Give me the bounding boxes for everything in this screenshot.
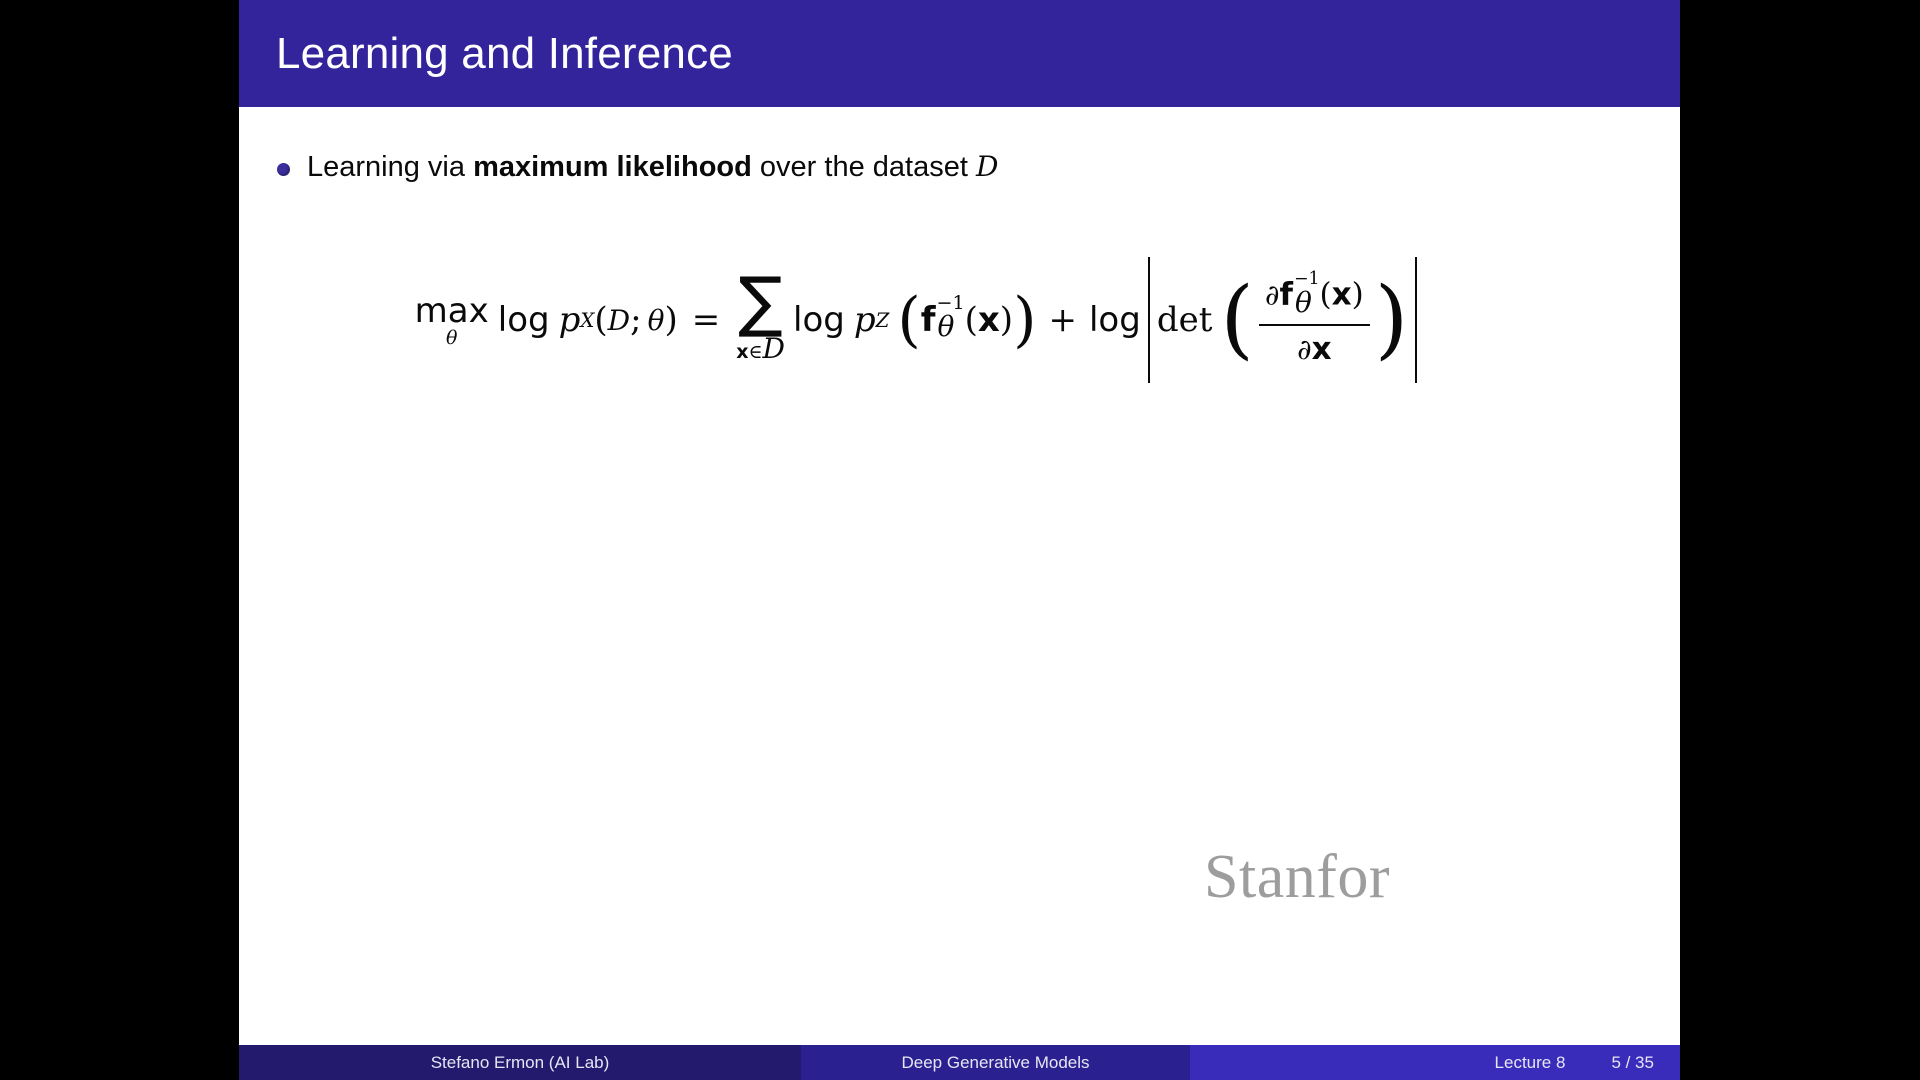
partial-icon-2: ∂ xyxy=(1297,333,1311,366)
footer-author: Stefano Ermon (AI Lab) xyxy=(239,1045,801,1080)
paren-close-4: ) xyxy=(1375,283,1409,357)
flow-function-symbol-1: f xyxy=(921,300,936,340)
flow-function-scripts-2: −1θ xyxy=(1294,271,1320,317)
bullet-bold-emphasis: maximum likelihood xyxy=(473,151,752,183)
theta-subscript-1: θ xyxy=(938,313,966,342)
paren-open-3: ( xyxy=(965,300,978,340)
footer-page-number: 5 / 35 xyxy=(1611,1053,1654,1073)
theta-subscript-2: θ xyxy=(1295,289,1321,318)
presentation-slide: Learning and Inference Learning via maxi… xyxy=(239,0,1680,1080)
bullet-suffix: over the dataset xyxy=(752,151,976,183)
paren-close-3: ) xyxy=(1000,300,1013,340)
paren-open-5: ( xyxy=(1320,277,1332,313)
density-px-subscript: X xyxy=(580,309,594,332)
footer-lecture-number: Lecture 8 xyxy=(1495,1053,1566,1073)
slide-body: Learning via maximum likelihood over the… xyxy=(239,107,1680,1045)
paren-close-5: ) xyxy=(1352,277,1364,313)
density-pz-symbol: p xyxy=(854,300,876,340)
equation-block: max θ log pX ( D ; θ ) = xyxy=(239,257,1680,383)
sigma-icon: ∑ xyxy=(738,275,782,329)
slide-footer: Stefano Ermon (AI Lab) Deep Generative M… xyxy=(239,1045,1680,1080)
dataset-symbol-2: D xyxy=(763,332,785,365)
footer-course-title: Deep Generative Models xyxy=(801,1045,1190,1080)
paren-open-1: ( xyxy=(594,300,607,340)
semicolon: ; xyxy=(630,300,641,340)
slide-viewer: Learning and Inference Learning via maxi… xyxy=(0,0,1920,1080)
max-subscript-theta: θ xyxy=(446,327,457,349)
log-operator-3: log xyxy=(1089,300,1141,340)
input-variable-3: x xyxy=(1312,331,1332,367)
bullet-prefix: Learning via xyxy=(307,151,473,183)
determinant-label: det xyxy=(1157,300,1213,340)
abs-bar-left xyxy=(1148,257,1150,383)
max-operator: max θ xyxy=(415,291,489,349)
bullet-dataset-symbol: D xyxy=(976,150,998,183)
math-expression: max θ log pX ( D ; θ ) = xyxy=(415,257,1425,383)
bullet-text: Learning via maximum likelihood over the… xyxy=(307,149,998,185)
equals-sign: = xyxy=(692,300,721,340)
paren-open-2: ( xyxy=(897,293,920,347)
plus-sign: + xyxy=(1048,300,1077,340)
stanford-watermark: Stanfor xyxy=(1204,842,1390,913)
density-px-symbol: p xyxy=(559,300,581,340)
flow-function-scripts-1: −1θ xyxy=(937,294,965,342)
paren-close-1: ) xyxy=(664,300,677,340)
density-pz-subscript: Z xyxy=(876,309,890,332)
summation-limit: x∈D xyxy=(736,332,785,365)
max-label: max xyxy=(415,291,489,331)
dataset-symbol-1: D xyxy=(608,304,630,337)
jacobian-denominator: ∂x xyxy=(1291,326,1337,367)
theta-symbol: θ xyxy=(648,304,665,337)
element-of-icon: ∈ xyxy=(748,341,762,363)
partial-icon-1: ∂ xyxy=(1265,279,1279,312)
input-variable-2: x xyxy=(1332,277,1352,313)
page-title: Learning and Inference xyxy=(239,29,733,79)
summation-index: x xyxy=(736,341,748,363)
flow-function-symbol-2: f xyxy=(1279,277,1293,313)
paren-close-2: ) xyxy=(1013,293,1036,347)
jacobian-numerator: ∂f−1θ(x) xyxy=(1259,273,1370,323)
jacobian-fraction: ∂f−1θ(x) ∂x xyxy=(1259,273,1370,366)
footer-right: Lecture 8 5 / 35 xyxy=(1190,1045,1680,1080)
log-operator-2: log xyxy=(793,300,845,340)
paren-open-4: ( xyxy=(1220,283,1254,357)
input-variable-1: x xyxy=(978,300,1000,340)
abs-bar-right xyxy=(1415,257,1417,383)
log-operator-1: log xyxy=(498,300,550,340)
bullet-dot-icon xyxy=(277,163,290,176)
slide-title-bar: Learning and Inference xyxy=(239,0,1680,107)
bullet-item: Learning via maximum likelihood over the… xyxy=(277,149,1657,185)
summation-operator: ∑ x∈D xyxy=(736,275,785,365)
